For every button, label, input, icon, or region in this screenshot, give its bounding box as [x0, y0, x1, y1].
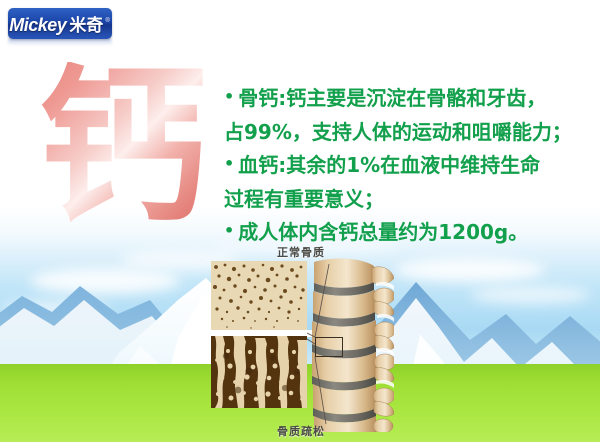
bullet-text-block: •骨钙:钙主要是沉淀在骨骼和牙齿， 占99%，支持人体的运动和咀嚼能力； •血钙…	[224, 82, 596, 250]
bullet-text: 成人体内含钙总量约为1200g。	[238, 220, 528, 244]
bullet-item-1-line-2: 占99%，支持人体的运动和咀嚼能力；	[224, 116, 596, 149]
bullet-item-1-line-1: •骨钙:钙主要是沉淀在骨骼和牙齿，	[224, 82, 596, 116]
callout-leader-lines	[208, 244, 394, 440]
page-title: 钙	[35, 62, 210, 232]
brand-name-en: Mickey	[9, 15, 66, 36]
brand-logo[interactable]: Mickey 米奇 ®	[8, 8, 112, 39]
bullet-item-2-line-1: •血钙:其余的1%在血液中维持生命	[224, 149, 596, 183]
bullet-text: 血钙:其余的1%在血液中维持生命	[238, 153, 540, 177]
slide-canvas: Mickey 米奇 ® 钙 •骨钙:钙主要是沉淀在骨骼和牙齿， 占99%，支持人…	[0, 0, 600, 442]
trademark-icon: ®	[105, 18, 109, 24]
bullet-text: 骨钙:钙主要是沉淀在骨骼和牙齿，	[238, 86, 546, 110]
bullet-dot-icon: •	[224, 154, 234, 173]
bullet-dot-icon: •	[224, 221, 234, 240]
bullet-dot-icon: •	[224, 87, 234, 106]
brand-name-cn: 米奇	[69, 11, 103, 36]
brand-logo-reflection	[8, 37, 112, 46]
bone-comparison-figure: 正常骨质	[208, 244, 394, 440]
figure-label-osteoporosis: 骨质疏松	[208, 423, 394, 439]
bullet-item-2-line-2: 过程有重要意义；	[224, 183, 596, 216]
brand-logo-inner: Mickey 米奇 ®	[9, 11, 110, 36]
